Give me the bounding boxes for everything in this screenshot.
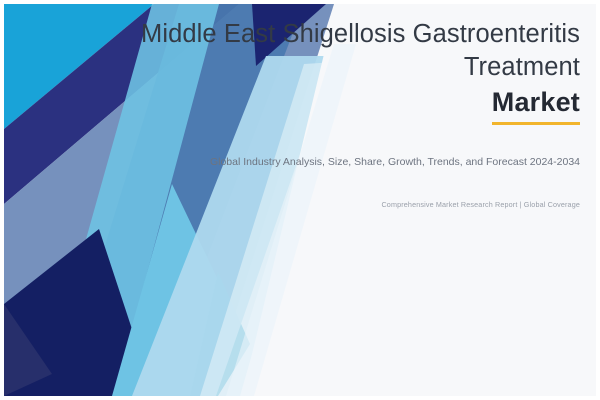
market-heading-group: Market	[492, 88, 580, 125]
market-accent-rule	[492, 122, 580, 125]
cover-text-layer: Middle East Shigellosis Gastroenteritis …	[4, 4, 596, 396]
report-caption: Comprehensive Market Research Report | G…	[160, 200, 580, 211]
report-cover: Middle East Shigellosis Gastroenteritis …	[0, 0, 600, 400]
cover-canvas: Middle East Shigellosis Gastroenteritis …	[4, 4, 596, 396]
page-title: Middle East Shigellosis Gastroenteritis …	[64, 18, 580, 83]
report-subtitle: Global Industry Analysis, Size, Share, G…	[160, 154, 580, 170]
market-heading: Market	[492, 88, 580, 118]
